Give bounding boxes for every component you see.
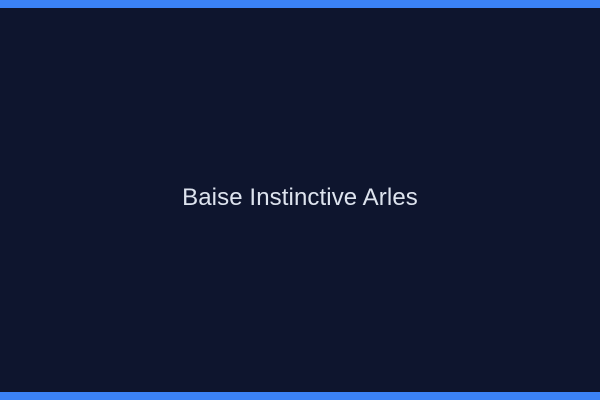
placeholder-body: Baise Instinctive Arles xyxy=(0,8,600,392)
accent-bar-top xyxy=(0,0,600,8)
placeholder-caption: Baise Instinctive Arles xyxy=(158,184,442,213)
accent-bar-bottom xyxy=(0,392,600,400)
placeholder-card: Baise Instinctive Arles xyxy=(0,0,600,400)
